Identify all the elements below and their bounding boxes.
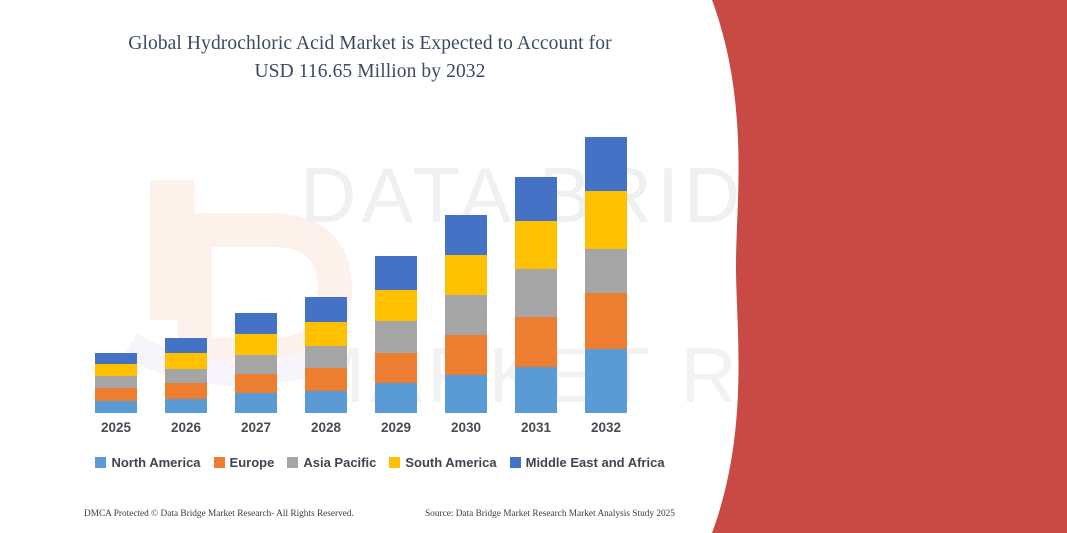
bar-group xyxy=(235,313,277,413)
bar-group xyxy=(95,353,137,413)
bar-segment xyxy=(445,295,487,335)
chart-panel: DATA BRIDGE MARKET RESEARCH Global Hydro… xyxy=(0,0,760,533)
bar-segment xyxy=(95,401,137,413)
bar-segment xyxy=(445,335,487,375)
page-title-line-1: Global Hydrochloric Acid Market is Expec… xyxy=(128,33,611,54)
chart-legend: North AmericaEuropeAsia PacificSouth Ame… xyxy=(0,455,760,470)
legend-label: Asia Pacific xyxy=(303,455,376,470)
x-axis-tick: 2029 xyxy=(366,420,426,435)
bar-segment xyxy=(445,215,487,255)
bar-group xyxy=(515,177,557,413)
bar-segment xyxy=(165,399,207,413)
legend-item[interactable]: Middle East and Africa xyxy=(510,455,665,470)
x-axis-tick: 2027 xyxy=(226,420,286,435)
bar-group xyxy=(445,215,487,413)
footer: DMCA Protected © Data Bridge Market Rese… xyxy=(0,505,720,531)
bar-segment xyxy=(515,221,557,269)
bar-segment xyxy=(515,269,557,317)
legend-item[interactable]: Europe xyxy=(214,455,275,470)
bar-segment xyxy=(305,368,347,391)
legend-swatch-icon xyxy=(95,457,106,468)
bar-segment xyxy=(305,391,347,413)
legend-label: Middle East and Africa xyxy=(526,455,665,470)
legend-label: South America xyxy=(405,455,496,470)
x-axis-tick: 2025 xyxy=(86,420,146,435)
brand-panel: Global Hydrochloric Acid Market, By Regi… xyxy=(690,0,1067,533)
stacked-bar-plot xyxy=(85,110,685,413)
x-axis-tick: 2031 xyxy=(506,420,566,435)
x-axis-tick: 2030 xyxy=(436,420,496,435)
bar-segment xyxy=(585,249,627,293)
bar-segment xyxy=(585,293,627,349)
bar-group xyxy=(165,338,207,413)
infographic-root: DATA BRIDGE MARKET RESEARCH Global Hydro… xyxy=(0,0,1067,533)
bar-segment xyxy=(585,137,627,191)
bar-segment xyxy=(235,374,277,393)
bar-segment xyxy=(305,322,347,346)
bar-segment xyxy=(95,364,137,376)
page-title-line-2: USD 116.65 Million by 2032 xyxy=(254,61,485,82)
legend-item[interactable]: North America xyxy=(95,455,200,470)
bar-segment xyxy=(375,290,417,321)
legend-label: Europe xyxy=(230,455,275,470)
bar-segment xyxy=(95,388,137,401)
bar-group xyxy=(305,297,347,413)
bar-segment xyxy=(445,375,487,413)
bar-segment xyxy=(235,393,277,413)
bar-segment xyxy=(235,355,277,374)
bar-segment xyxy=(165,383,207,399)
bar-segment xyxy=(375,256,417,290)
x-axis-labels: 20252026202720282029203020312032 xyxy=(85,420,685,444)
bar-segment xyxy=(305,346,347,368)
bar-segment xyxy=(515,177,557,221)
bar-segment xyxy=(375,321,417,353)
legend-item[interactable]: South America xyxy=(389,455,496,470)
legend-swatch-icon xyxy=(214,457,225,468)
bar-segment xyxy=(95,376,137,388)
bar-group xyxy=(585,137,627,413)
legend-item[interactable]: Asia Pacific xyxy=(287,455,376,470)
x-axis-tick: 2028 xyxy=(296,420,356,435)
bar-segment xyxy=(375,383,417,413)
bar-segment xyxy=(165,369,207,383)
bar-segment xyxy=(585,191,627,249)
bar-group xyxy=(375,256,417,413)
legend-swatch-icon xyxy=(510,457,521,468)
bar-segment xyxy=(165,353,207,369)
bar-segment xyxy=(95,353,137,364)
legend-swatch-icon xyxy=(389,457,400,468)
page-title: Global Hydrochloric Acid Market is Expec… xyxy=(60,30,680,87)
bar-segment xyxy=(165,338,207,353)
x-axis-tick: 2026 xyxy=(156,420,216,435)
brand-panel-background xyxy=(690,0,1067,533)
bar-segment xyxy=(515,317,557,367)
bar-segment xyxy=(305,297,347,322)
bar-segment xyxy=(515,367,557,413)
dmca-notice: DMCA Protected © Data Bridge Market Rese… xyxy=(84,509,354,519)
legend-label: North America xyxy=(111,455,200,470)
bar-segment xyxy=(235,313,277,334)
x-axis-tick: 2032 xyxy=(576,420,636,435)
legend-swatch-icon xyxy=(287,457,298,468)
bar-segment xyxy=(445,255,487,295)
source-notice: Source: Data Bridge Market Research Mark… xyxy=(425,509,675,519)
bar-segment xyxy=(235,334,277,355)
bar-segment xyxy=(375,353,417,383)
bar-segment xyxy=(585,349,627,413)
